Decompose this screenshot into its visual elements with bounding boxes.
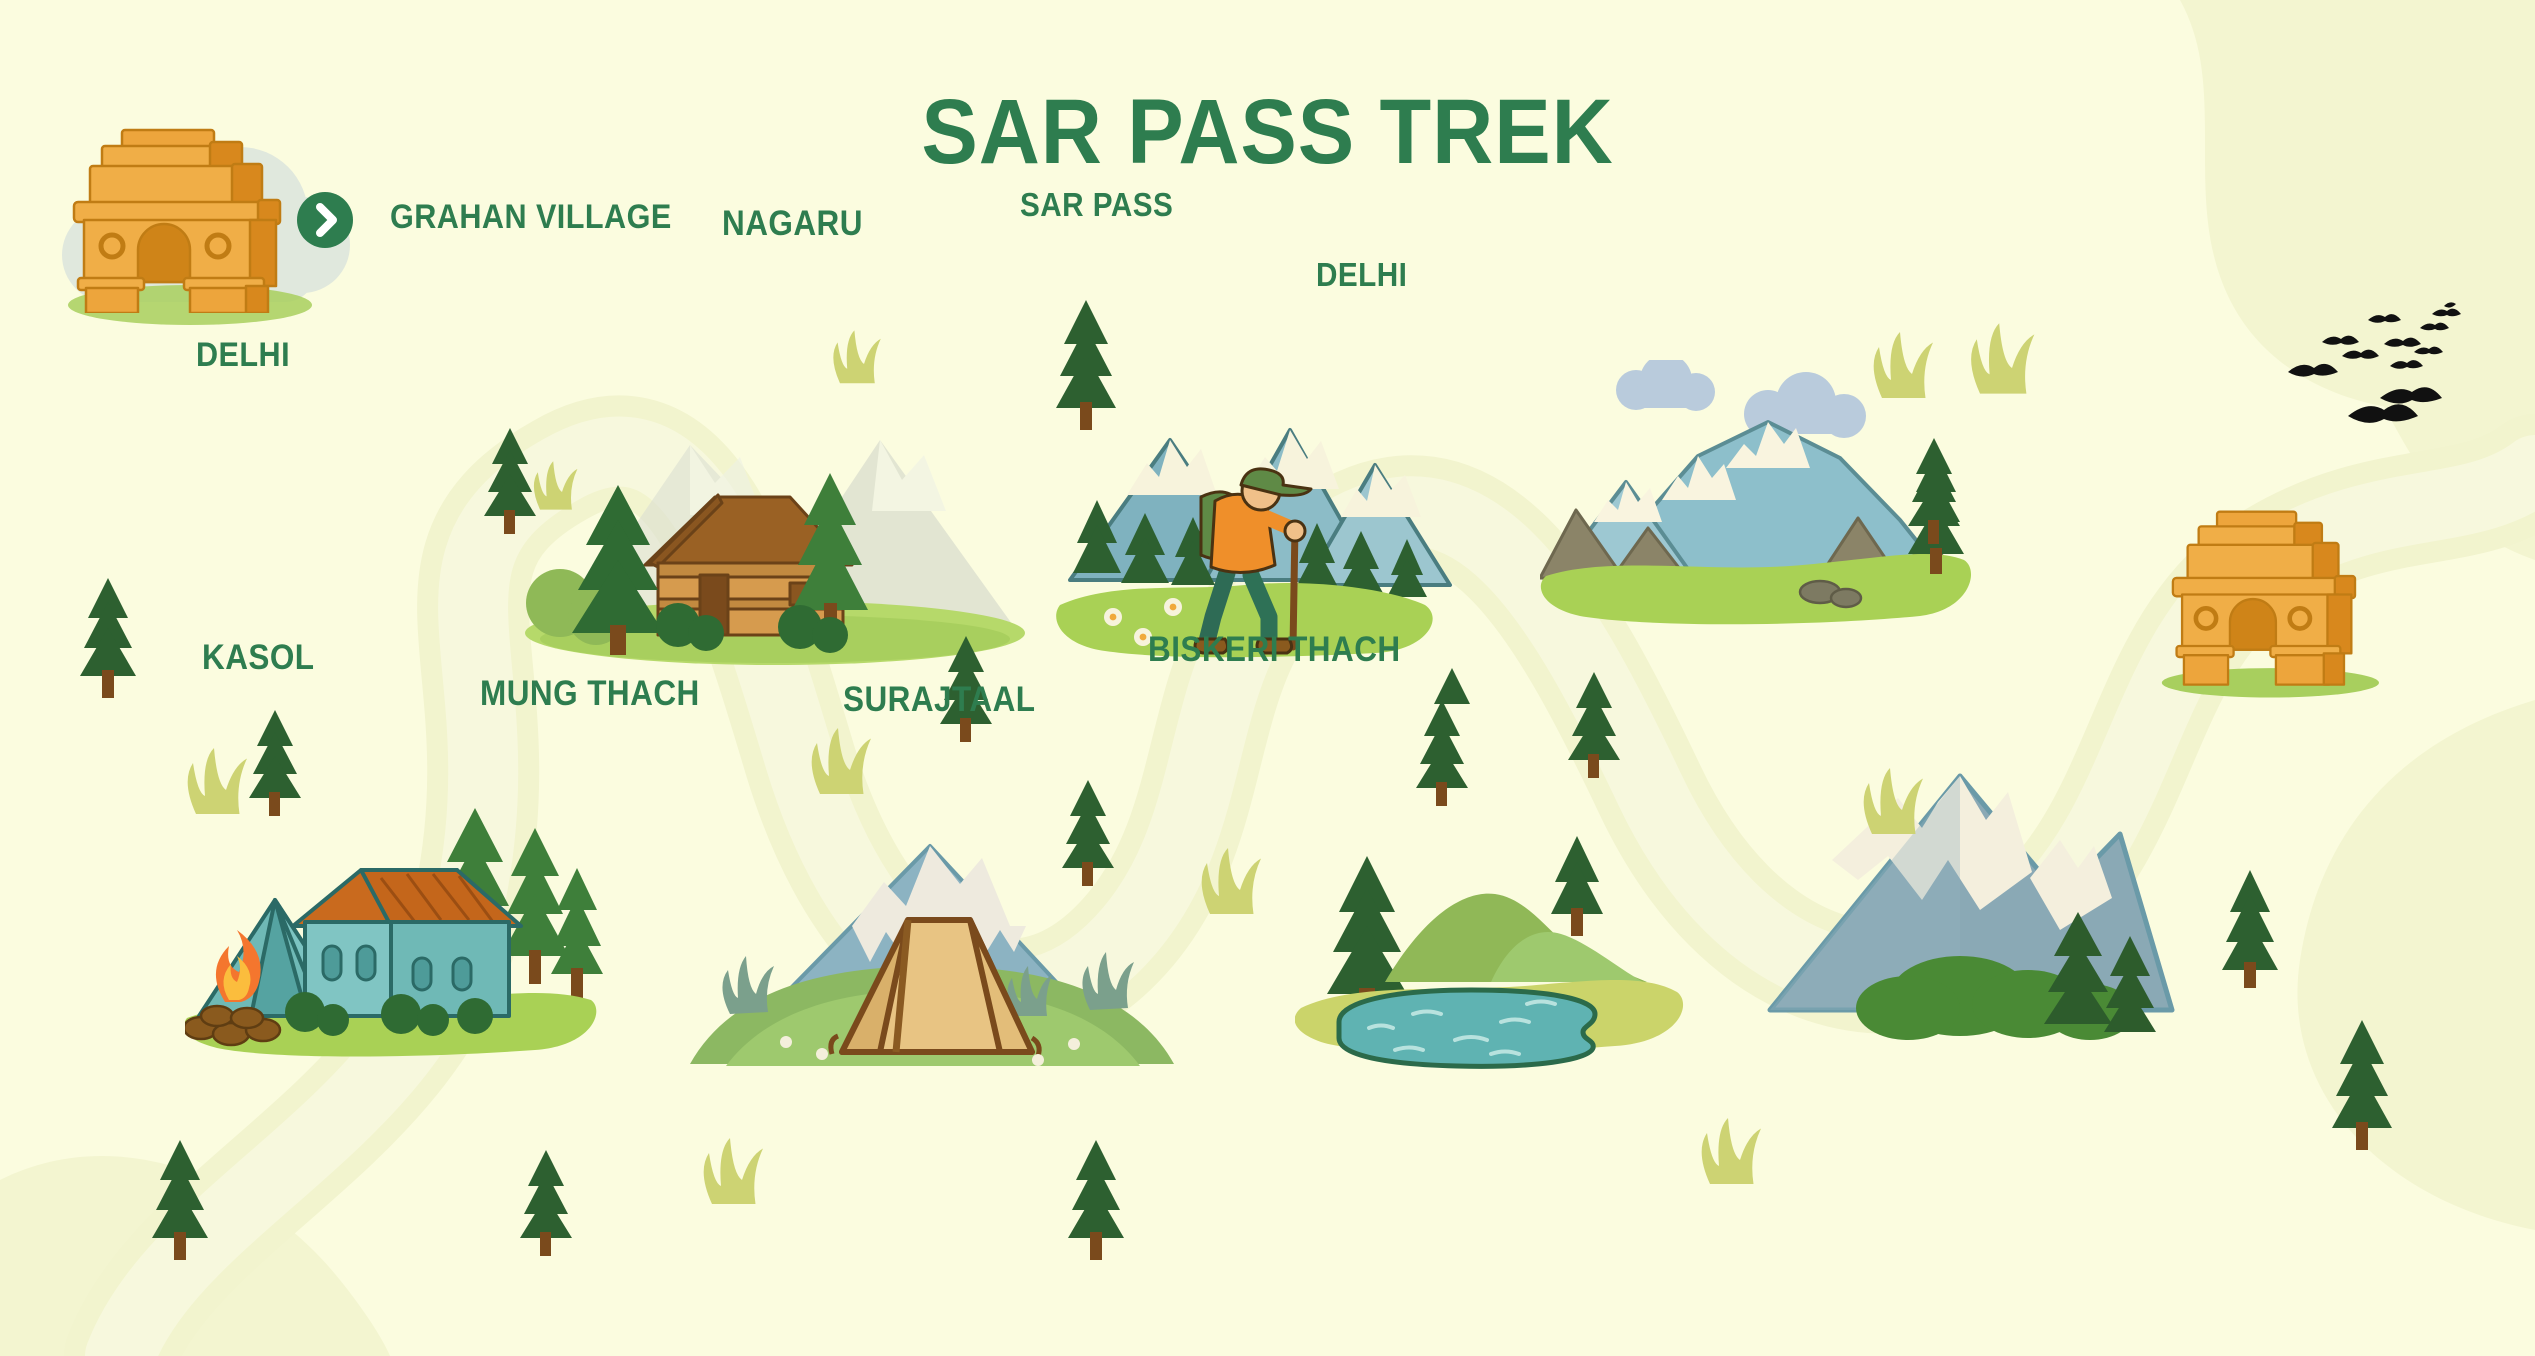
page-title: SAR PASS TREK (101, 80, 2433, 185)
label-sar-pass: SAR PASS (1020, 186, 1173, 224)
grass-tuft-icon (1864, 768, 1923, 834)
label-delhi-end: DELHI (1316, 256, 1407, 294)
grass-tuft-icon (1202, 848, 1261, 914)
grass-tuft-icon (534, 461, 578, 509)
grass-tuft-icon (704, 1138, 763, 1204)
grass-tuft-icon (833, 330, 880, 383)
label-mung-thach: MUNG THACH (480, 674, 700, 714)
label-biskeri-thach: BISKERI THACH (1148, 630, 1401, 670)
grass-tuft-icon (1874, 332, 1933, 398)
label-delhi-start: DELHI (196, 336, 290, 375)
grass-tuft-icon (188, 748, 247, 814)
label-surajtaal: SURAJTAAL (843, 680, 1035, 720)
label-grahan-village: GRAHAN VILLAGE (390, 198, 672, 237)
label-kasol: KASOL (202, 638, 315, 678)
grass-tufts-layer (0, 0, 2535, 1356)
trek-map-infographic: SAR PASS TREK DELHI GRAHAN VILLAGE NAGAR… (0, 0, 2535, 1356)
grass-tuft-icon (1971, 323, 2034, 393)
grass-tuft-icon (812, 728, 871, 794)
grass-tuft-icon (1702, 1118, 1761, 1184)
label-nagaru: NAGARU (722, 204, 863, 244)
